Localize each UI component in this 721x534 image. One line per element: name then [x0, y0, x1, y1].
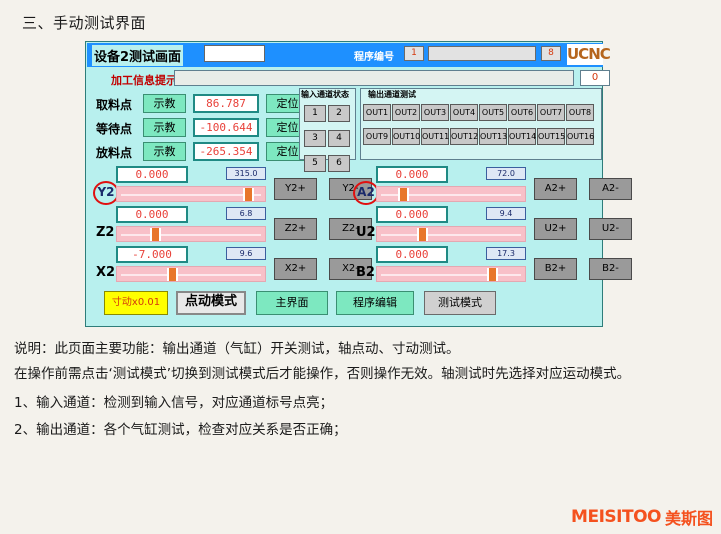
- axis-jog-plus-y2[interactable]: Y2+: [274, 178, 317, 200]
- axis-jog-plus-u2[interactable]: U2+: [534, 218, 577, 240]
- axis-value-x2[interactable]: -7.000: [116, 246, 188, 263]
- description-line-3: 1、输入通道：检测到输入信号，对应通道标号点亮；: [14, 391, 333, 411]
- program-name-input[interactable]: [428, 46, 536, 61]
- input-channel-2[interactable]: 2: [328, 105, 350, 122]
- slider-thumb[interactable]: [167, 268, 178, 281]
- slider-thumb[interactable]: [243, 188, 254, 201]
- point-row-pick: 取料点 示教 86.787 定位: [96, 94, 311, 114]
- axis-slider-b2[interactable]: [376, 266, 526, 282]
- axis-max-y2: 315.0: [226, 167, 266, 180]
- teach-button[interactable]: 示教: [143, 142, 186, 161]
- slider-track: [381, 274, 521, 276]
- axis-max-u2: 9.4: [486, 207, 526, 220]
- company-logo: MEISITOO 美斯图: [571, 506, 713, 528]
- slider-thumb[interactable]: [398, 188, 409, 201]
- axis-row-z2: Z20.0006.8Z2+Z2-: [94, 206, 342, 246]
- slider-track: [381, 234, 521, 236]
- slider-thumb[interactable]: [417, 228, 428, 241]
- output-channel-out12[interactable]: OUT12: [450, 128, 478, 145]
- axis-jog-plus-z2[interactable]: Z2+: [274, 218, 317, 240]
- point-label: 取料点: [96, 96, 132, 113]
- output-channel-out15[interactable]: OUT15: [537, 128, 565, 145]
- output-channel-out16[interactable]: OUT16: [566, 128, 594, 145]
- input-channel-grid: 123456: [304, 100, 352, 175]
- axis-label-b2: B2: [356, 265, 375, 280]
- axis-slider-z2[interactable]: [116, 226, 266, 242]
- hmi-title-input[interactable]: [204, 45, 265, 62]
- point-value[interactable]: -265.354: [193, 142, 259, 161]
- axis-label-u2: U2: [356, 225, 376, 240]
- description-line-2: 在操作前需点击‘测试模式’切换到测试模式后才能操作，否则操作无效。轴测试时先选择…: [14, 362, 630, 382]
- point-value[interactable]: 86.787: [193, 94, 259, 113]
- output-channel-grid: OUT1OUT2OUT3OUT4OUT5OUT6OUT7OUT8OUT9OUT1…: [363, 100, 601, 148]
- axis-value-b2[interactable]: 0.000: [376, 246, 448, 263]
- jog-step-button[interactable]: 寸动x0.01: [104, 291, 168, 315]
- slider-track: [121, 194, 261, 196]
- axis-jog-plus-a2[interactable]: A2+: [534, 178, 577, 200]
- hmi-title-text: 设备2测试画面: [92, 45, 183, 66]
- teach-button[interactable]: 示教: [143, 94, 186, 113]
- axis-max-b2: 17.3: [486, 247, 526, 260]
- axis-max-z2: 6.8: [226, 207, 266, 220]
- output-channel-out1[interactable]: OUT1: [363, 104, 391, 121]
- teach-button[interactable]: 示教: [143, 118, 186, 137]
- axis-value-z2[interactable]: 0.000: [116, 206, 188, 223]
- main-screen-button[interactable]: 主界面: [256, 291, 328, 315]
- program-secondary-value[interactable]: 8: [541, 46, 561, 61]
- page-title: 三、手动测试界面: [22, 12, 146, 33]
- output-channel-out9[interactable]: OUT9: [363, 128, 391, 145]
- hmi-panel: 设备2测试画面 程序编号 1 8 UCNC 加工信息提示： 0 取料点 示教 8…: [85, 41, 603, 327]
- axis-jog-minus-a2[interactable]: A2-: [589, 178, 632, 200]
- input-channel-title: 输入通道状态: [301, 89, 349, 100]
- point-label: 等待点: [96, 120, 132, 137]
- axis-row-u2: U20.0009.4U2+U2-: [354, 206, 602, 246]
- point-mode-button[interactable]: 点动模式: [176, 291, 246, 315]
- axis-jog-plus-b2[interactable]: B2+: [534, 258, 577, 280]
- point-row-wait: 等待点 示教 -100.644 定位: [96, 118, 311, 138]
- output-channel-out5[interactable]: OUT5: [479, 104, 507, 121]
- program-number-label: 程序编号: [354, 48, 394, 63]
- output-channel-out7[interactable]: OUT7: [537, 104, 565, 121]
- logo-chinese-name: 美斯图: [665, 505, 713, 529]
- point-label: 放料点: [96, 144, 132, 161]
- axis-jog-plus-x2[interactable]: X2+: [274, 258, 317, 280]
- test-mode-button[interactable]: 测试模式: [424, 291, 496, 315]
- output-channel-out6[interactable]: OUT6: [508, 104, 536, 121]
- point-row-place: 放料点 示教 -265.354 定位: [96, 142, 311, 162]
- slider-thumb[interactable]: [150, 228, 161, 241]
- axis-slider-y2[interactable]: [116, 186, 266, 202]
- axis-max-x2: 9.6: [226, 247, 266, 260]
- description-line-4: 2、输出通道：各个气缸测试，检查对应关系是否正确；: [14, 418, 347, 438]
- program-edit-button[interactable]: 程序编辑: [336, 291, 414, 315]
- description-line-1: 说明：此页面主要功能：输出通道（气缸）开关测试，轴点动、寸动测试。: [14, 337, 460, 357]
- axis-max-a2: 72.0: [486, 167, 526, 180]
- info-message-field[interactable]: [174, 70, 574, 86]
- output-channel-out11[interactable]: OUT11: [421, 128, 449, 145]
- output-channel-out2[interactable]: OUT2: [392, 104, 420, 121]
- axis-row-x2: X2-7.0009.6X2+X2-: [94, 246, 342, 286]
- program-number-value[interactable]: 1: [404, 46, 424, 61]
- axis-row-a2: A20.00072.0A2+A2-: [354, 166, 602, 206]
- axis-value-y2[interactable]: 0.000: [116, 166, 188, 183]
- bottom-button-bar: 寸动x0.01 点动模式 主界面 程序编辑 测试模式: [104, 291, 504, 317]
- axis-row-b2: B20.00017.3B2+B2-: [354, 246, 602, 286]
- axis-label-x2: X2: [96, 265, 115, 280]
- output-channel-out10[interactable]: OUT10: [392, 128, 420, 145]
- output-channel-out13[interactable]: OUT13: [479, 128, 507, 145]
- axis-value-a2[interactable]: 0.000: [376, 166, 448, 183]
- axis-slider-u2[interactable]: [376, 226, 526, 242]
- output-channel-out8[interactable]: OUT8: [566, 104, 594, 121]
- axis-jog-minus-u2[interactable]: U2-: [589, 218, 632, 240]
- ucnc-logo: UCNC: [567, 44, 603, 65]
- input-channel-1[interactable]: 1: [304, 105, 326, 122]
- input-channel-3[interactable]: 3: [304, 130, 326, 147]
- axis-row-y2: Y20.000315.0Y2+Y2-: [94, 166, 342, 206]
- info-counter[interactable]: 0: [580, 70, 610, 86]
- output-channel-out4[interactable]: OUT4: [450, 104, 478, 121]
- output-channel-title: 输出通道测试: [368, 89, 416, 100]
- output-channel-out3[interactable]: OUT3: [421, 104, 449, 121]
- output-channel-out14[interactable]: OUT14: [508, 128, 536, 145]
- slider-thumb[interactable]: [487, 268, 498, 281]
- axis-slider-a2[interactable]: [376, 186, 526, 202]
- axis-slider-x2[interactable]: [116, 266, 266, 282]
- input-channel-4[interactable]: 4: [328, 130, 350, 147]
- axis-jog-minus-b2[interactable]: B2-: [589, 258, 632, 280]
- slider-track: [121, 274, 261, 276]
- point-value[interactable]: -100.644: [193, 118, 259, 137]
- logo-wordmark: MEISITOO: [571, 507, 661, 527]
- axis-label-z2: Z2: [96, 225, 114, 240]
- axis-value-u2[interactable]: 0.000: [376, 206, 448, 223]
- slider-track: [121, 234, 261, 236]
